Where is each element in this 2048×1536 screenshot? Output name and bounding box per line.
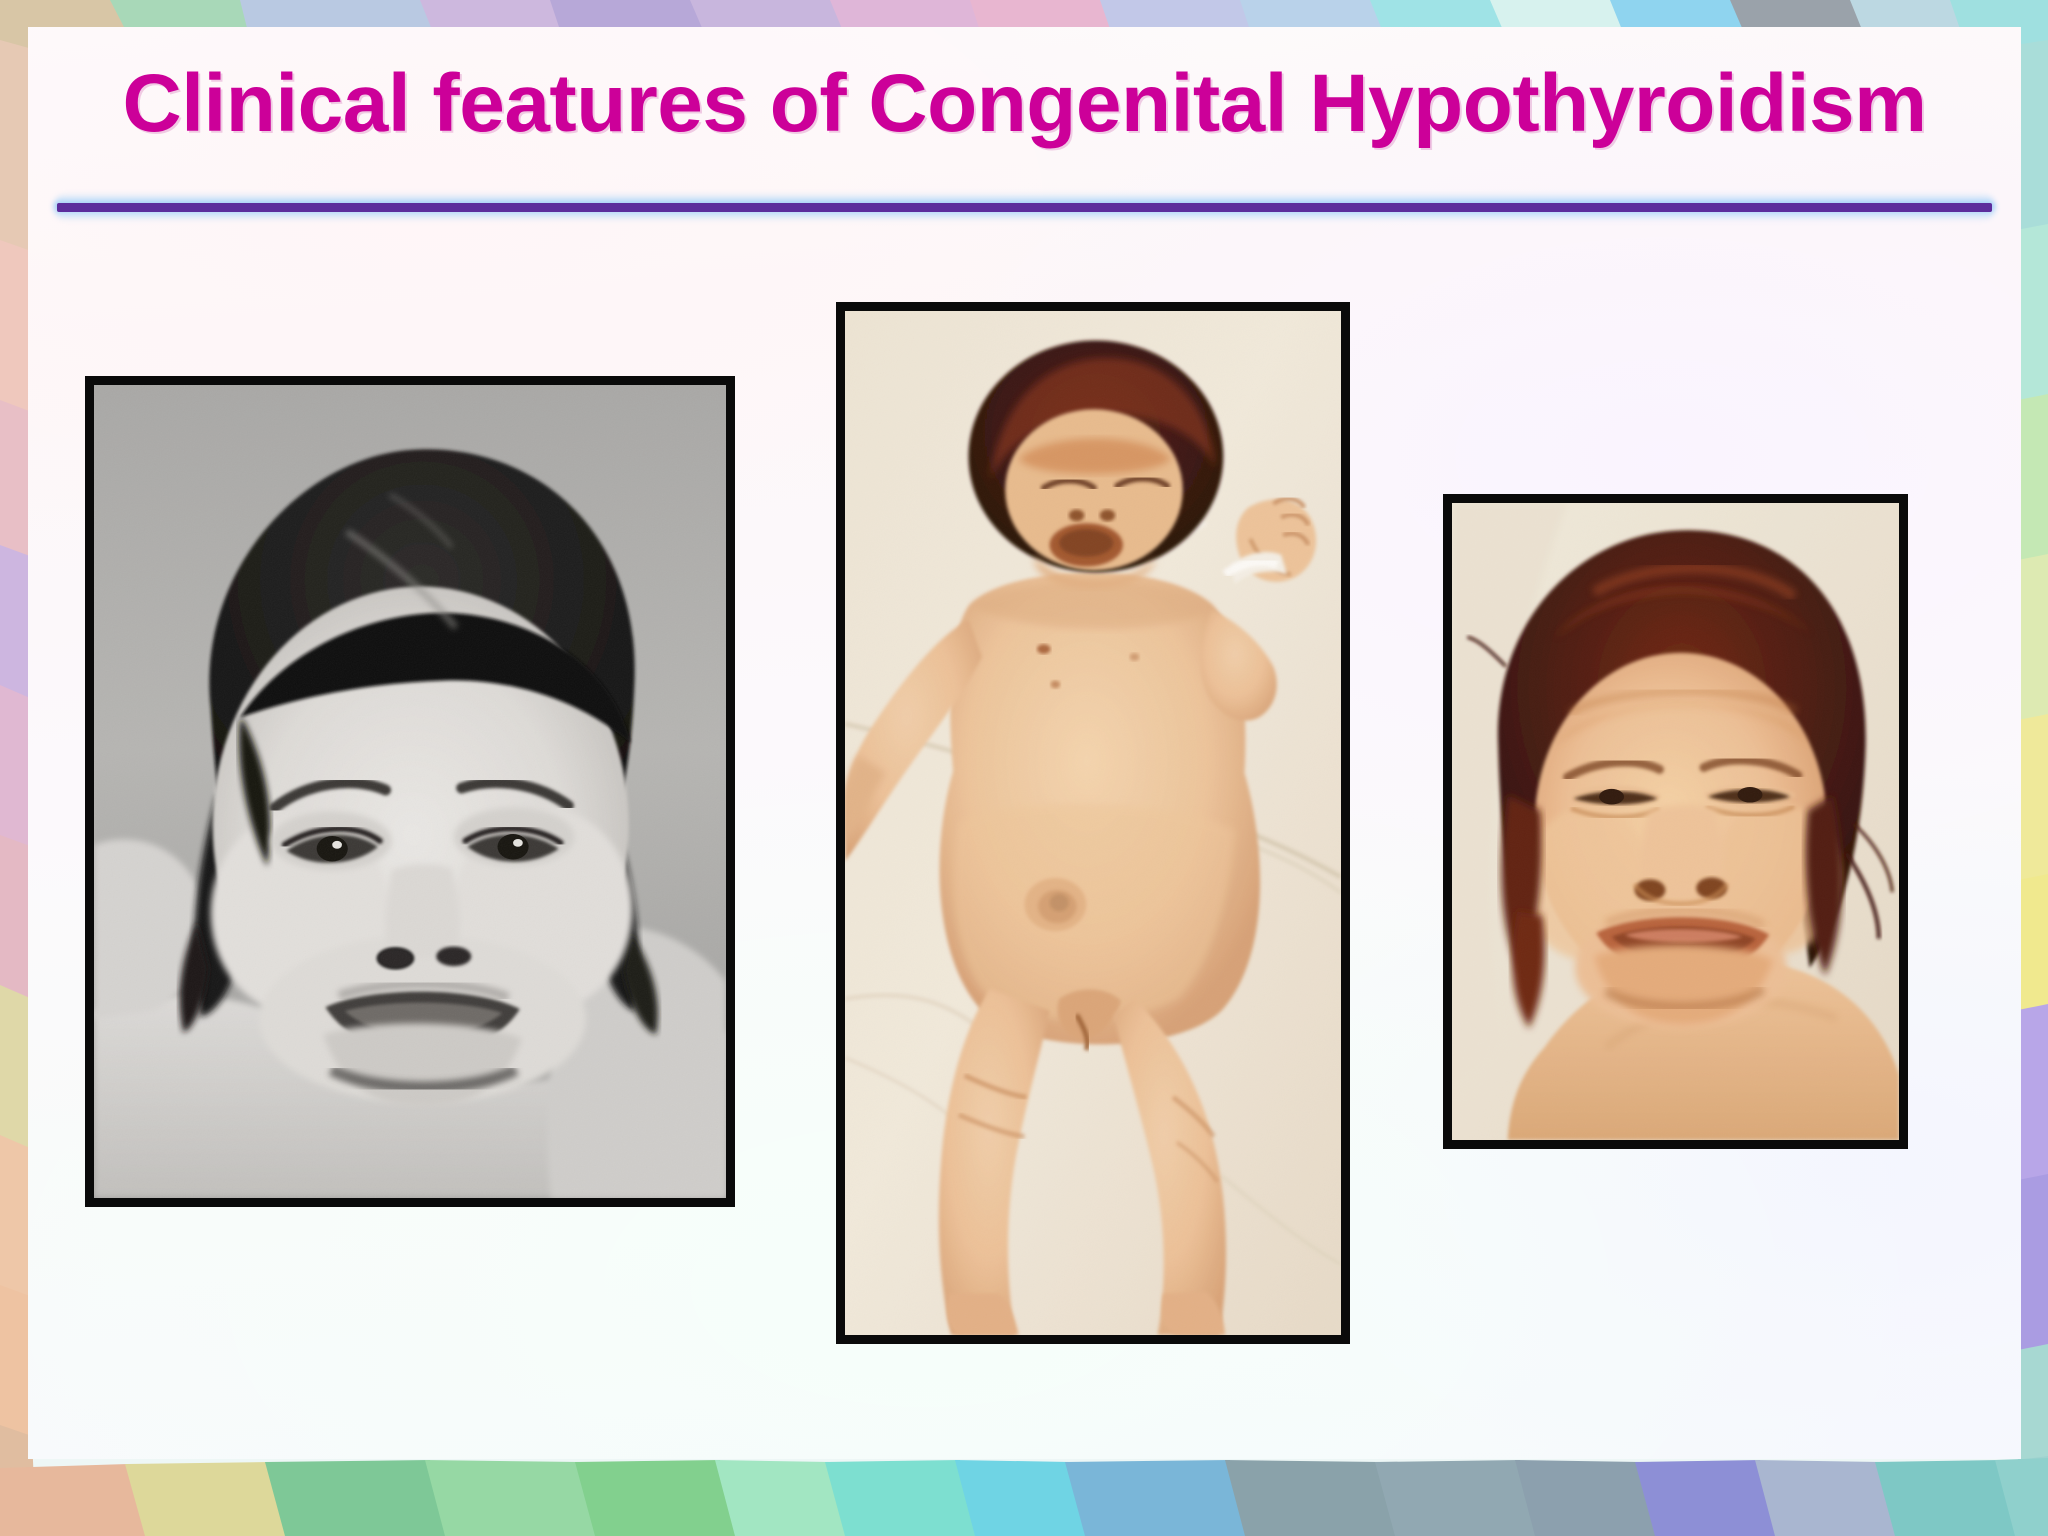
slide-canvas: Clinical features of Congenital Hypothyr… xyxy=(0,0,2048,1536)
divider-core-line xyxy=(57,203,1992,212)
figure-left-bw-infant-face-photo xyxy=(85,376,735,1207)
title-container: Clinical features of Congenital Hypothyr… xyxy=(28,61,2021,146)
figure-middle-color-infant-fullbody-photo xyxy=(836,302,1350,1344)
figure-right-color-infant-face-photo xyxy=(1443,494,1908,1149)
page-title: Clinical features of Congenital Hypothyr… xyxy=(122,61,1926,146)
title-divider-rule xyxy=(54,187,1995,227)
